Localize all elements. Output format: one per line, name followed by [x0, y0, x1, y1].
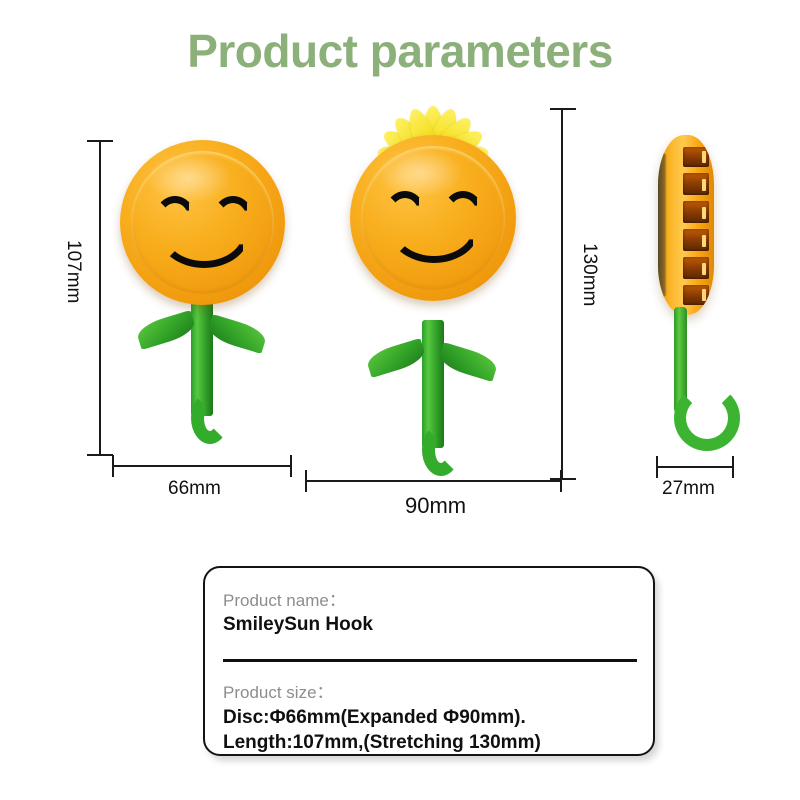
page-title: Product parameters	[0, 24, 800, 78]
eye-right-icon	[442, 191, 484, 215]
dim-90mm-line	[305, 480, 562, 482]
product-info-card: Product name： SmileySun Hook Product siz…	[203, 566, 655, 756]
product-name-label: Product name：	[223, 586, 346, 611]
dim-66mm-line	[112, 465, 292, 467]
slot-highlight	[702, 289, 706, 301]
dim-130mm-label: 130mm	[578, 243, 600, 306]
slot-highlight	[702, 207, 706, 219]
mouth-icon	[158, 232, 250, 268]
side-hook-arc	[674, 385, 740, 451]
eye-left-icon	[384, 191, 426, 215]
leaf-left	[365, 338, 427, 378]
product-expanded-sunflower-hook	[305, 108, 562, 480]
dim-27mm-label: 27mm	[662, 478, 715, 500]
hook-arc	[191, 392, 229, 444]
slot-highlight	[702, 235, 706, 247]
product-side-view-hook	[650, 135, 760, 465]
slot-highlight	[702, 151, 706, 163]
card-divider	[223, 659, 637, 662]
dim-66mm-label: 66mm	[168, 478, 221, 500]
hook-arc	[422, 424, 460, 476]
smiley-disc	[350, 135, 516, 301]
product-name-value: SmileySun Hook	[223, 612, 373, 637]
leaf-right	[206, 314, 268, 354]
dim-27mm-line	[656, 466, 734, 468]
slot-highlight	[702, 263, 706, 275]
slot-highlight	[702, 179, 706, 191]
product-size-label: Product size：	[223, 678, 334, 703]
dim-107mm-label: 107mm	[62, 240, 84, 303]
disc-gloss	[377, 148, 463, 198]
leaf-right	[437, 342, 499, 382]
product-size-line-1: Disc:Ф66mm(Expanded Ф90mm).	[223, 705, 526, 730]
eye-left-icon	[154, 196, 196, 220]
smiley-disc	[120, 140, 285, 305]
product-size-line-2: Length:107mm,(Stretching 130mm)	[223, 730, 541, 755]
side-dark-edge	[658, 153, 667, 297]
leaf-left	[135, 310, 197, 350]
disc-gloss	[146, 153, 232, 203]
mouth-icon	[388, 227, 480, 263]
dim-90mm-label: 90mm	[405, 493, 466, 519]
eye-right-icon	[212, 196, 254, 220]
product-closed-smiley-hook	[112, 140, 292, 460]
dim-107mm-line	[99, 140, 101, 456]
dim-107mm-bottom-cap	[87, 454, 113, 456]
product-parameters-infographic: Product parameters 107mm 130mm 66mm 90mm…	[0, 0, 800, 800]
side-disc-body	[658, 135, 714, 315]
